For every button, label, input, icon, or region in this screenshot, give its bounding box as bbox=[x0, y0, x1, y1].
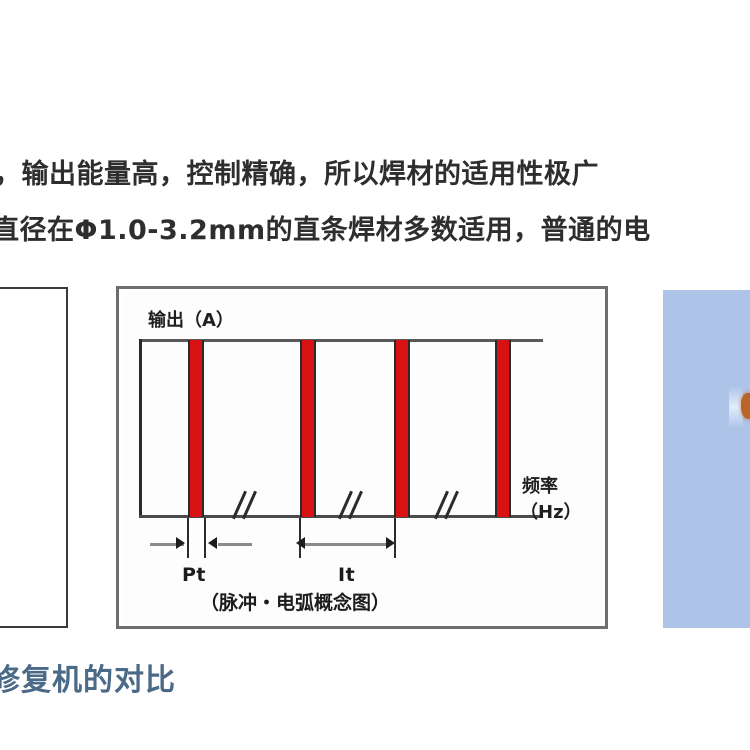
pt-tick-right bbox=[204, 518, 206, 558]
chart-plot-area: 输出（A） 频率 （Hz） Pt It （脉冲・电弧概念图） bbox=[122, 292, 602, 623]
x-axis-label-primary: 频率 bbox=[522, 472, 558, 498]
bottom-section-heading: 修复机的对比 bbox=[0, 655, 176, 699]
pt-arrow-right bbox=[176, 537, 185, 549]
pt-arrow-left bbox=[208, 537, 217, 549]
left-figure-panel bbox=[0, 287, 68, 628]
it-arrow-right bbox=[386, 537, 395, 549]
body-text-line-1: ，输出能量高，控制精确，所以焊材的适用性极广 bbox=[0, 152, 750, 191]
pulse-bar bbox=[188, 340, 204, 517]
x-axis-label-unit: （Hz） bbox=[520, 498, 582, 524]
pt-dim-line-right bbox=[218, 543, 252, 546]
pulse-bar bbox=[495, 340, 511, 517]
pt-tick-left bbox=[187, 518, 189, 558]
it-dim-line bbox=[304, 543, 390, 546]
body-text-line-2: 直径在Φ1.0-3.2mm的直条焊材多数适用，普通的电 bbox=[0, 208, 750, 247]
it-arrow-left bbox=[296, 537, 305, 549]
axis-break-mark bbox=[238, 490, 260, 524]
right-photo-panel bbox=[663, 290, 750, 628]
pt-label: Pt bbox=[182, 564, 206, 586]
photo-accent-spot bbox=[741, 393, 750, 419]
chart-caption: （脉冲・电弧概念图） bbox=[200, 588, 390, 615]
y-axis-line bbox=[139, 339, 142, 517]
pulse-bar bbox=[300, 340, 316, 517]
pulse-bar bbox=[394, 340, 410, 517]
axis-break-mark bbox=[344, 490, 366, 524]
axis-break-mark bbox=[440, 490, 462, 524]
pulse-arc-chart-figure: 输出（A） 频率 （Hz） Pt It （脉冲・电弧概念图） bbox=[116, 286, 608, 629]
it-label: It bbox=[338, 564, 355, 586]
y-axis-label: 输出（A） bbox=[148, 306, 234, 332]
